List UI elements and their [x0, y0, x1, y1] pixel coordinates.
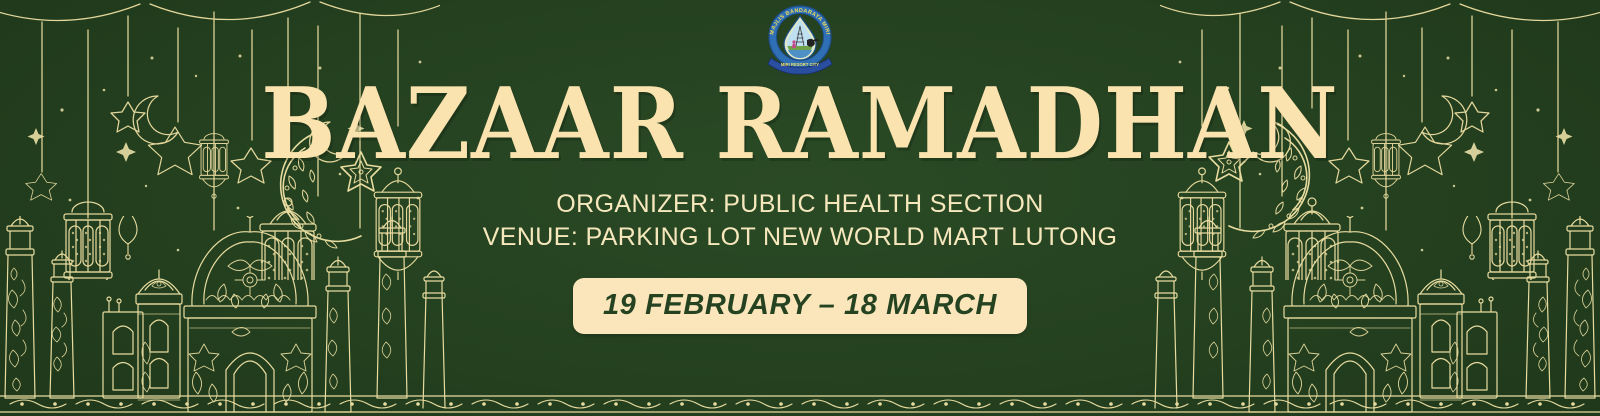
- date-range-badge: 19 FEBRUARY – 18 MARCH: [573, 278, 1027, 334]
- banner-subtitles: ORGANIZER: PUBLIC HEALTH SECTION VENUE: …: [483, 188, 1118, 254]
- ramadhan-bazaar-banner: MAJLIS BANDARAYA MIRI: [0, 0, 1600, 416]
- venue-line: VENUE: PARKING LOT NEW WORLD MART LUTONG: [483, 221, 1118, 254]
- banner-content: BAZAAR RAMADHAN ORGANIZER: PUBLIC HEALTH…: [0, 0, 1600, 416]
- banner-title: BAZAAR RAMADHAN: [261, 76, 1339, 171]
- organizer-line: ORGANIZER: PUBLIC HEALTH SECTION: [483, 188, 1118, 221]
